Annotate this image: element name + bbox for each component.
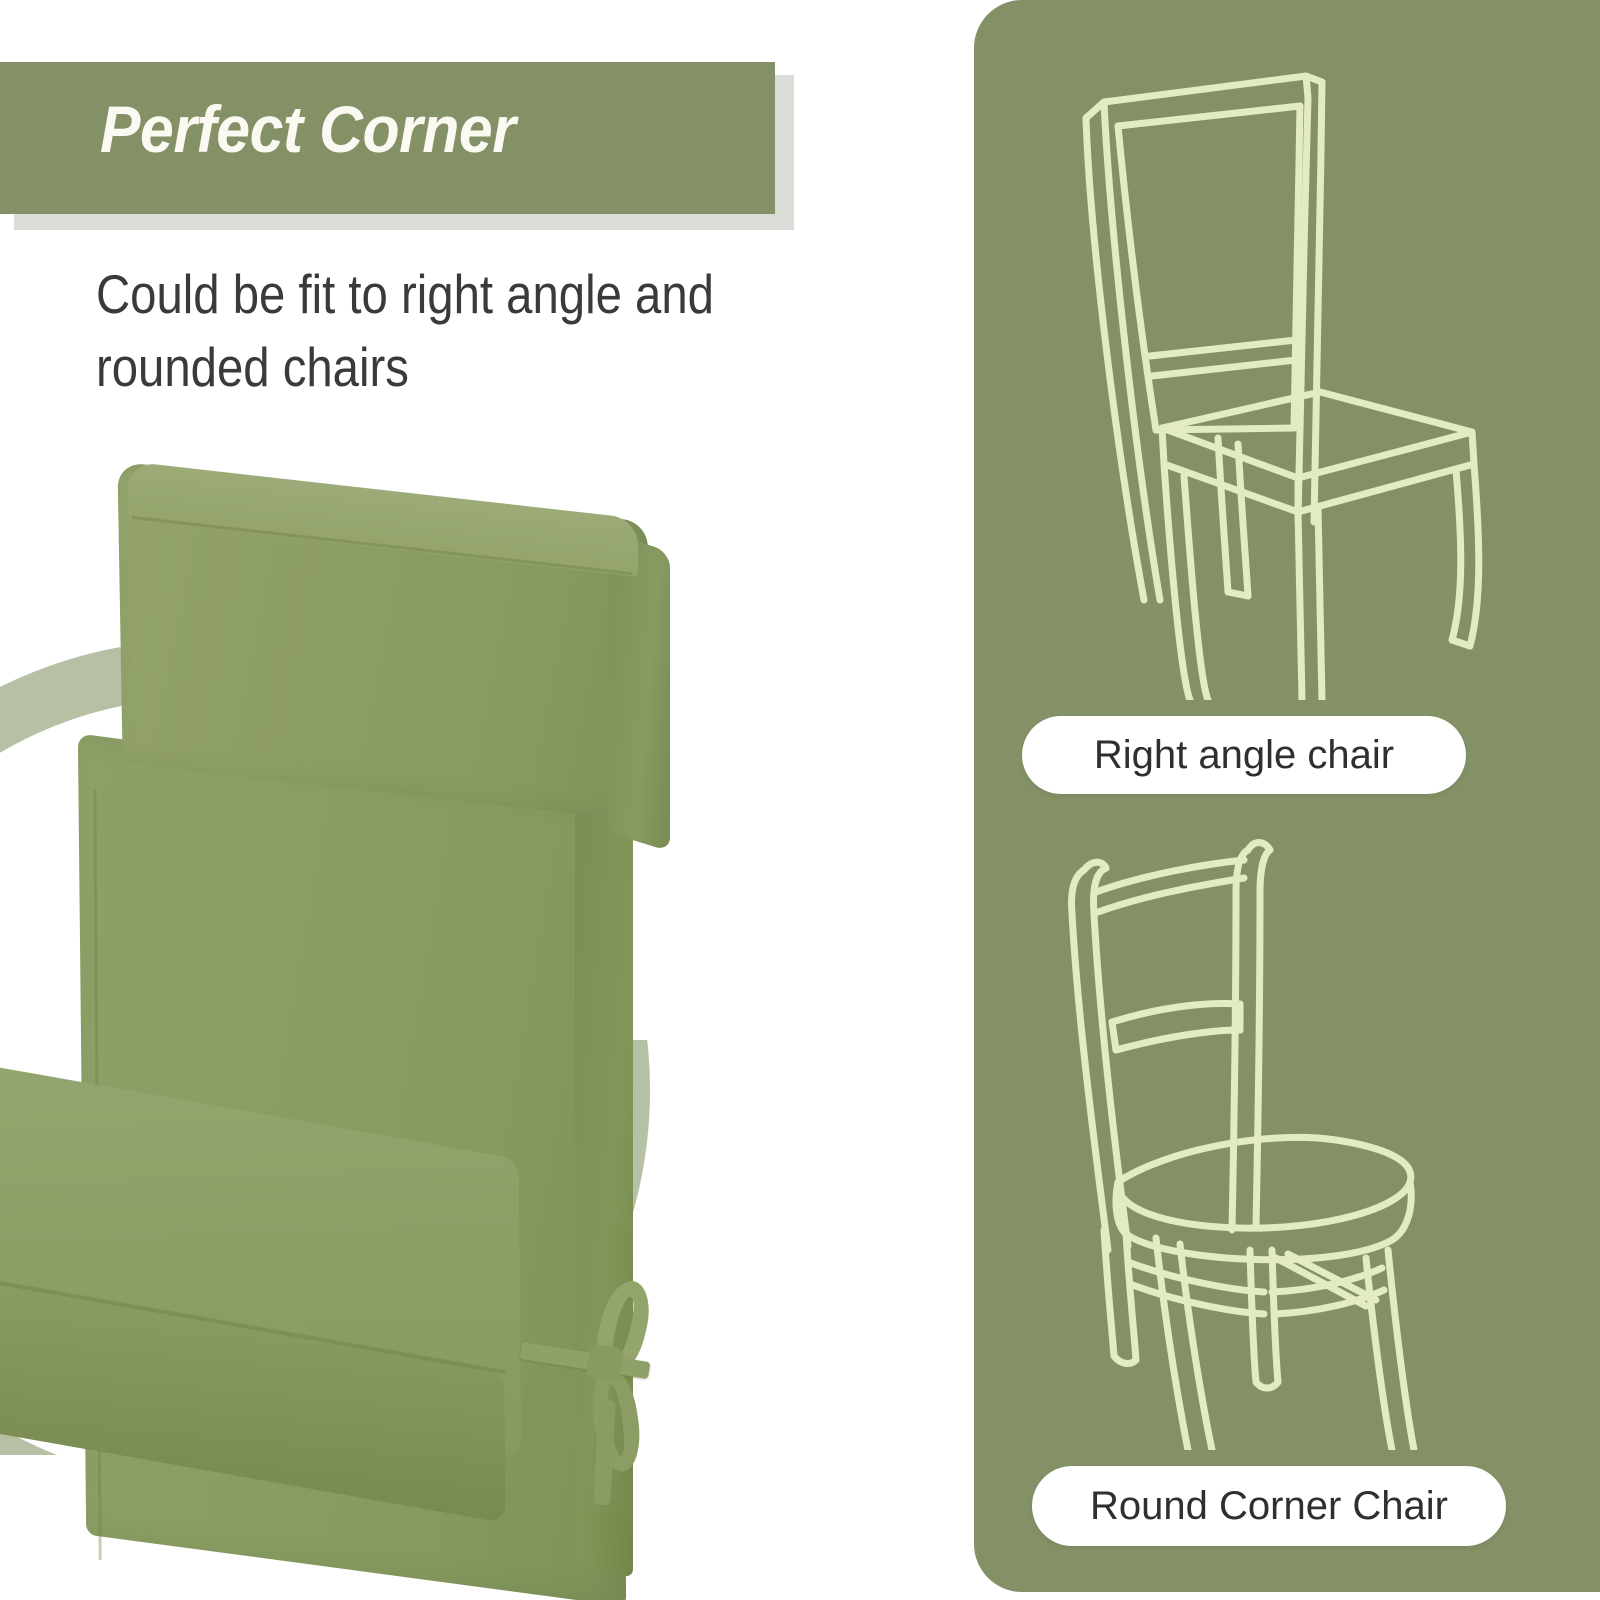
label-round-corner-chair: Round Corner Chair — [1032, 1466, 1506, 1546]
infographic-canvas: Perfect Corner Could be fit to right ang… — [0, 0, 1600, 1600]
right-angle-chair-illustration — [1032, 40, 1532, 700]
label-right-angle-chair-text: Right angle chair — [1094, 733, 1394, 778]
page-title: Perfect Corner — [100, 96, 515, 162]
product-cushion-image — [0, 470, 720, 1600]
label-round-corner-chair-text: Round Corner Chair — [1090, 1484, 1448, 1529]
left-content-column: Perfect Corner Could be fit to right ang… — [0, 0, 960, 1600]
chair-types-panel: Right angle chair — [974, 0, 1600, 1592]
cushion-headrest-side — [608, 533, 670, 852]
subtitle-text: Could be fit to right angle and rounded … — [96, 258, 801, 404]
round-corner-chair-illustration — [1036, 810, 1536, 1450]
label-right-angle-chair: Right angle chair — [1022, 716, 1466, 794]
